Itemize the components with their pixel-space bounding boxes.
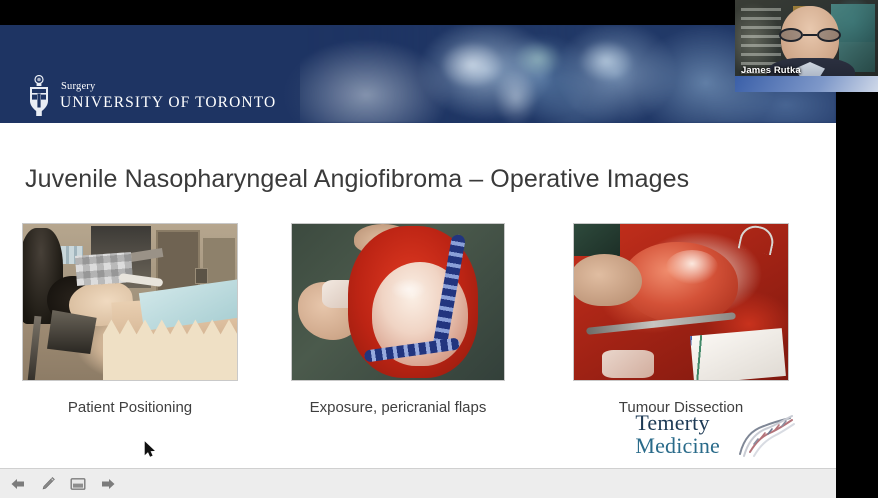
dna-helix-icon — [734, 412, 796, 458]
video-foreground-strip — [735, 76, 878, 92]
uoft-sub-label: Surgery — [60, 82, 276, 93]
figure-row: Patient Positioning — [0, 223, 836, 423]
operative-image-tumour-dissection — [574, 224, 788, 380]
slide-stage: Surgery UNIVERSITY OF TORONTO Juvenile N… — [0, 25, 836, 468]
temerty-medicine-logo: Temerty Medicine — [635, 412, 796, 458]
screen-root: Surgery UNIVERSITY OF TORONTO Juvenile N… — [0, 0, 878, 498]
slide-icon — [70, 477, 86, 491]
presentation-toolbar — [0, 468, 836, 498]
pen-icon — [40, 476, 56, 492]
uoft-main-label: UNIVERSITY OF TORONTO — [60, 95, 276, 111]
uoft-logo: Surgery UNIVERSITY OF TORONTO — [27, 75, 276, 117]
figure-tumour-dissection: Tumour Dissection — [573, 223, 789, 416]
participant-name-label: James Rutka — [741, 65, 801, 76]
page-title: Juvenile Nasopharyngeal Angiofibroma – O… — [25, 165, 689, 194]
uoft-crest-icon — [27, 75, 51, 117]
figure-patient-positioning: Patient Positioning — [22, 223, 238, 416]
slide-view-button[interactable] — [68, 474, 88, 494]
slide-body: Juvenile Nasopharyngeal Angiofibroma – O… — [0, 123, 836, 468]
participant-video-tile[interactable]: James Rutka — [735, 0, 878, 92]
annotate-button[interactable] — [38, 474, 58, 494]
brand-line-2: Medicine — [635, 435, 720, 458]
arrow-right-icon — [100, 477, 116, 491]
previous-slide-button[interactable] — [8, 474, 28, 494]
operative-image-exposure — [292, 224, 504, 380]
figure-caption: Exposure, pericranial flaps — [291, 399, 505, 416]
glasses-icon — [779, 28, 841, 42]
arrow-left-icon — [10, 477, 26, 491]
operative-image-patient-positioning — [23, 224, 237, 380]
brand-line-1: Temerty — [635, 412, 720, 435]
figure-image-frame — [291, 223, 505, 381]
figure-image-frame — [573, 223, 789, 381]
figure-caption: Patient Positioning — [22, 399, 238, 416]
figure-exposure-pericranial-flaps: Exposure, pericranial flaps — [291, 223, 505, 416]
figure-image-frame — [22, 223, 238, 381]
next-slide-button[interactable] — [98, 474, 118, 494]
slide-banner: Surgery UNIVERSITY OF TORONTO — [0, 25, 836, 123]
mouse-cursor — [144, 441, 156, 459]
